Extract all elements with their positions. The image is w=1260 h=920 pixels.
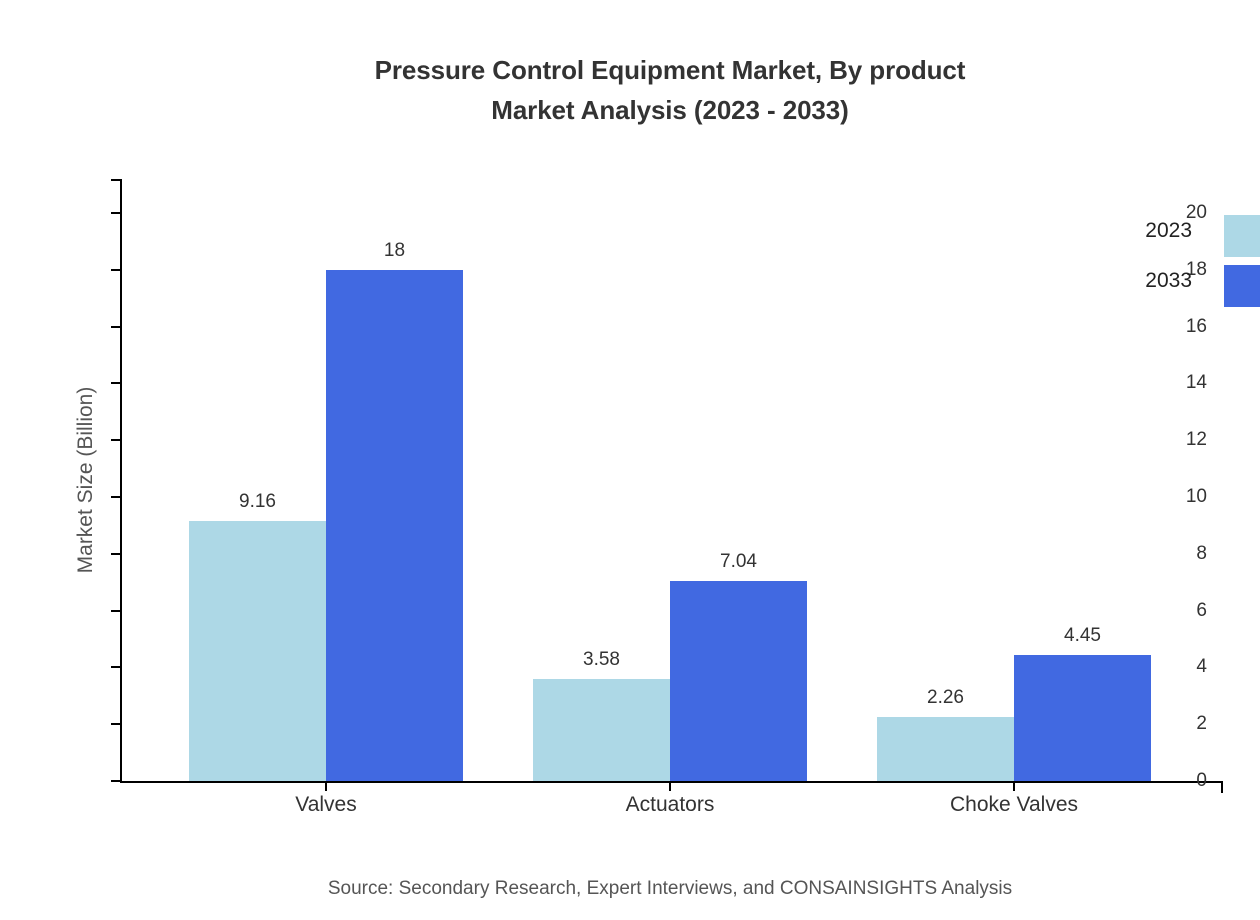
y-tick-label-8: 8 [1196,543,1207,565]
chart-title-line-1: Pressure Control Equipment Market, By pr… [0,50,1260,90]
y-tick-label-0: 0 [1196,770,1207,792]
bar-actuators-2033[interactable] [670,581,807,781]
bar-value-choke-valves-2033: 4.45 [1064,625,1101,647]
y-tick-16 [111,326,120,328]
x-tick-label-actuators: Actuators [626,793,715,817]
plot-area: 02468101214161820 9.16183.587.042.264.45… [120,179,1223,781]
bar-valves-2023[interactable] [189,521,326,781]
x-tick-actuators [669,781,671,791]
chart-title: Pressure Control Equipment Market, By pr… [0,50,1260,130]
x-tick-choke-valves [1013,781,1015,791]
legend-label-2033: 2033 [1145,269,1192,293]
chart-figure: Pressure Control Equipment Market, By pr… [0,0,1260,920]
legend-label-2023: 2023 [1145,219,1192,243]
x-tick-valves [325,781,327,791]
bar-actuators-2023[interactable] [533,679,670,781]
y-tick-2 [111,723,120,725]
y-tick-label-4: 4 [1196,656,1207,678]
y-tick-label-14: 14 [1186,372,1207,394]
chart-title-line-2: Market Analysis (2023 - 2033) [0,90,1260,130]
x-axis-spine [120,781,1223,783]
y-axis-title: Market Size (Billion) [74,179,98,781]
x-tick-label-choke-valves: Choke Valves [950,793,1078,817]
bar-value-actuators-2023: 3.58 [583,649,620,671]
y-tick-8 [111,553,120,555]
legend-swatch-2033 [1224,265,1260,307]
y-axis-top-cap-tick [111,179,120,181]
bar-choke-valves-2033[interactable] [1014,655,1151,781]
y-tick-20 [111,212,120,214]
y-tick-10 [111,496,120,498]
y-tick-label-6: 6 [1196,600,1207,622]
y-tick-0 [111,780,120,782]
y-axis-spine [120,179,122,781]
y-tick-label-2: 2 [1196,713,1207,735]
bar-value-valves-2023: 9.16 [239,491,276,513]
bar-value-actuators-2033: 7.04 [720,551,757,573]
y-tick-6 [111,610,120,612]
legend-swatch-2023 [1224,215,1260,257]
legend-item-2033[interactable]: 2033 [1130,265,1260,307]
x-axis-end-cap-tick [1221,781,1223,793]
y-tick-4 [111,666,120,668]
y-tick-label-12: 12 [1186,429,1207,451]
bar-choke-valves-2023[interactable] [877,717,1014,781]
y-tick-14 [111,382,120,384]
y-tick-12 [111,439,120,441]
y-tick-label-10: 10 [1186,486,1207,508]
bar-value-choke-valves-2023: 2.26 [927,687,964,709]
legend-item-2023[interactable]: 2023 [1130,215,1260,257]
bar-value-valves-2033: 18 [384,240,405,262]
source-note: Source: Secondary Research, Expert Inter… [0,878,1260,900]
bar-valves-2033[interactable] [326,270,463,781]
x-tick-label-valves: Valves [295,793,356,817]
y-tick-18 [111,269,120,271]
chart-legend: 2023 2033 [1130,215,1260,315]
y-tick-label-16: 16 [1186,316,1207,338]
